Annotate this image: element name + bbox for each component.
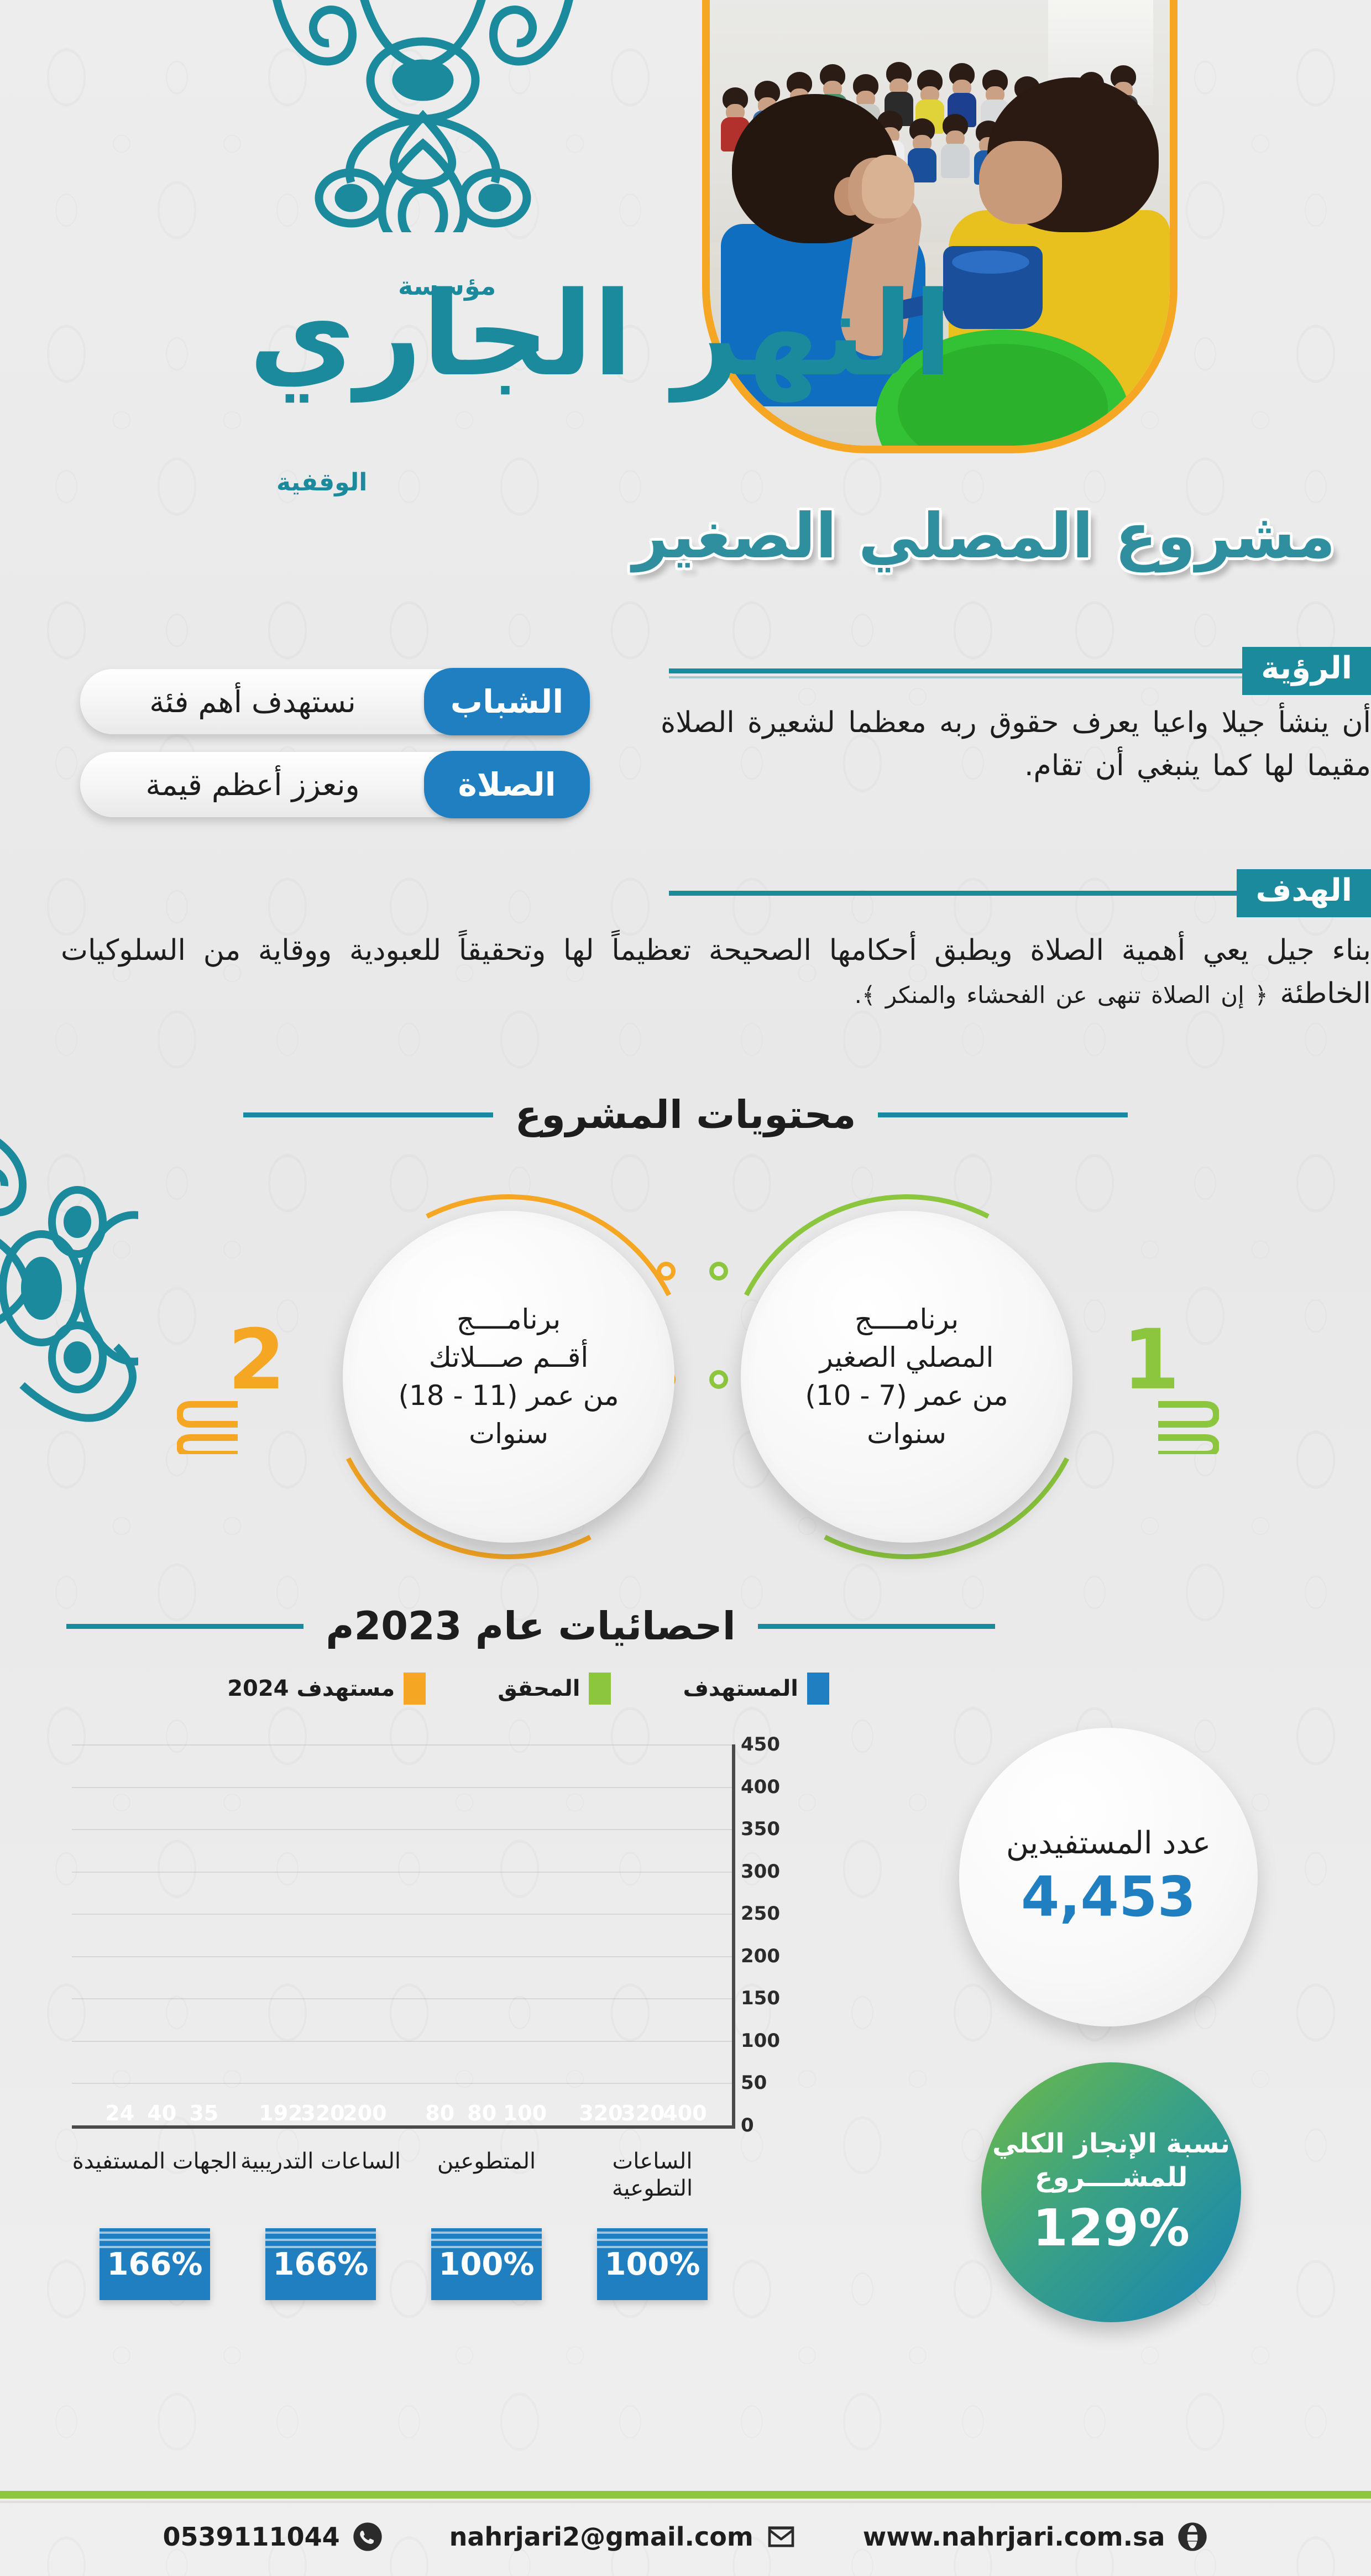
vision-text: أن ينشأ جيلا واعيا يعرف حقوق ربه معظما ل… [661,701,1371,787]
contents-card-1-line2: المصلي الصغير [779,1339,1034,1377]
footer-email[interactable]: nahrjari2@gmail.com [449,2521,797,2552]
legend-label: المحقق [498,1676,580,1701]
logo-main-word: النهر الجاري [249,276,953,393]
pill-youth-text: نستهدف أهم فئة [80,669,425,734]
contents-rule-left [243,1112,493,1117]
legend-swatch [404,1673,426,1705]
footer-phone-text: 0539111044 [163,2522,340,2552]
completion-label-line2: للمشــــروع [1035,2161,1188,2194]
envelope-icon [766,2521,797,2552]
page-title: مشروع المصلي الصغير [597,500,1371,572]
chart-y-tick: 100 [741,2030,792,2052]
goal-text-block: بناء جيل يعي أهمية الصلاة ويطبق أحكامها … [61,929,1371,1015]
percent-box-stripes [431,2232,542,2256]
percent-box: 166% [100,2228,210,2300]
chart-category-labels: الجهات المستفيدةالساعات التدريبيةالمتطوع… [72,2148,735,2202]
logo-bottom-word: الوقفية [276,468,367,497]
legend-item: المحقق [498,1673,611,1705]
chart-gridline [72,2083,732,2084]
phone-icon [352,2521,383,2552]
footer-website[interactable]: www.nahrjari.com.sa [863,2521,1208,2552]
chart-category-label: الجهات المستفيدة [72,2148,238,2202]
chart-category-label: الساعات التدريبية [238,2148,404,2202]
chart-bar-value: 200 [343,2101,385,2125]
chart-bar-value: 400 [663,2101,705,2125]
chart-bar-group: 8080100 [402,1744,562,2125]
chart-gridline [72,1829,732,1830]
contents-card-1-line4: سنوات [779,1415,1034,1453]
percent-box-cell: 166% [72,2228,238,2300]
statistics-section-header: احصائيات عام 2023م [66,1603,995,1649]
chart-bar-value: 320 [621,2101,663,2125]
pill-youth[interactable]: الشباب نستهدف أهم فئة [80,669,589,734]
footer-divider-shadow [0,2501,1371,2503]
chart-gridline [72,1914,732,1915]
chart-category-label: المتطوعين [404,2148,569,2202]
chart-gridline [72,1998,732,1999]
percent-box-stripes [597,2232,708,2256]
chart-y-tick: 300 [741,1861,792,1883]
completion-label-line1: نسبة الإنجاز الكلي [992,2127,1230,2160]
legend-label: المستهدف [683,1676,798,1701]
chart-legend: المستهدفالمحققمستهدف 2024 [66,1673,829,1705]
legend-item: المستهدف [683,1673,829,1705]
goal-rule [669,891,1237,896]
goal-ayah: ﴿ إن الصلاة تنهى عن الفحشاء والمنكر ﴾. [855,981,1268,1009]
pill-prayer[interactable]: الصلاة ونعزز أعظم قيمة [80,752,589,817]
beneficiaries-stat: عدد المستفيدين 4,453 [959,1728,1258,2026]
chart-bar-value: 40 [141,2101,183,2125]
pill-youth-tag: الشباب [424,668,590,735]
footer-website-text: www.nahrjari.com.sa [863,2522,1165,2552]
chart-gridline [72,1872,732,1873]
percent-box-stripes [100,2232,210,2256]
chart-gridline [72,1956,732,1957]
chart-bar-value: 35 [183,2101,225,2125]
contents-title: محتويات المشروع [515,1092,856,1137]
chart-bar-group: 192320200 [242,1744,402,2125]
contents-card-1-line1: برنامــــج [779,1300,1034,1339]
percent-box-cell: 100% [569,2228,735,2300]
contents-card-2[interactable]: برنامــــج أقــم صـــلاتك من عمر (11 - 1… [343,1211,674,1543]
percent-box-cell: 166% [238,2228,404,2300]
contents-number-2-tail-icon [177,1393,243,1454]
percent-box: 100% [431,2228,542,2300]
chart-y-tick: 200 [741,1945,792,1967]
statistics-title: احصائيات عام 2023م [326,1603,735,1649]
contents-card-2-line4: سنوات [381,1415,636,1453]
chart-y-tick: 150 [741,1987,792,2009]
vision-badge: الرؤية [1242,647,1371,695]
chart-y-tick: 400 [741,1776,792,1798]
bar-chart: 2440351923202008080100320320400 05010015… [72,1744,802,2140]
contents-number-2: 2 [228,1319,285,1402]
legend-swatch [589,1673,611,1705]
chart-bar-value: 320 [301,2101,343,2125]
footer-contact-bar: 0539111044 nahrjari2@gmail.com www.nahrj… [0,2521,1371,2552]
legend-swatch [807,1673,829,1705]
percent-box: 100% [597,2228,708,2300]
contents-rule-right [878,1112,1128,1117]
contents-card-2-line3: من عمر (11 - 18) [381,1377,636,1415]
pill-prayer-tag: الصلاة [424,751,590,818]
legend-item: مستهدف 2024 [227,1673,426,1705]
chart-y-tick: 450 [741,1733,792,1755]
goal-badge: الهدف [1237,869,1371,917]
percent-box-stripes [265,2232,376,2256]
chart-bar-group: 320320400 [562,1744,723,2125]
percent-box-cell: 100% [404,2228,569,2300]
chart-gridline [72,1744,732,1746]
water-jug [943,246,1043,329]
contents-card-1-line3: من عمر (7 - 10) [779,1377,1034,1415]
chart-bar-value: 320 [579,2101,621,2125]
contents-number-1-tail-icon [1153,1393,1219,1454]
chart-bar-value: 100 [503,2101,545,2125]
contents-section-header: محتويات المشروع [243,1092,1128,1137]
vision-rule [669,668,1242,673]
beneficiaries-value: 4,453 [1021,1864,1196,1929]
statistics-rule-left [66,1624,303,1629]
chart-y-tick: 350 [741,1818,792,1840]
chart-gridline [72,1787,732,1788]
completion-value: 129% [1033,2198,1190,2258]
contents-card-2-line1: برنامــــج [381,1300,636,1339]
footer-phone[interactable]: 0539111044 [163,2521,383,2552]
contents-node-1a [709,1262,728,1281]
footer-divider [0,2491,1371,2499]
chart-gridline [72,2041,732,2042]
chart-y-tick: 0 [741,2114,792,2136]
goal-section-header: الهدف [669,869,1371,917]
contents-node-1b [709,1370,728,1389]
vision-section-header: الرؤية [669,647,1371,695]
globe-icon [1177,2521,1208,2552]
percent-boxes-row: 166%166%100%100% [72,2228,735,2300]
chart-bar-group: 244035 [82,1744,242,2125]
contents-number-1: 1 [1122,1319,1180,1402]
contents-card-2-line2: أقــم صـــلاتك [381,1339,636,1377]
chart-bar-value: 24 [99,2101,141,2125]
chart-bar-value: 80 [419,2101,461,2125]
chart-bar-value: 80 [461,2101,503,2125]
percent-box: 166% [265,2228,376,2300]
chart-y-tick: 250 [741,1903,792,1925]
contents-node-2a [657,1262,676,1281]
footer-email-text: nahrjari2@gmail.com [449,2522,753,2552]
chart-category-label: الساعات التطوعية [569,2148,735,2202]
legend-label: مستهدف 2024 [227,1676,395,1701]
chart-bar-value: 192 [259,2101,301,2125]
chart-y-tick: 50 [741,2072,792,2094]
completion-stat: نسبة الإنجاز الكلي للمشــــروع 129% [981,2062,1241,2322]
organization-logo: مؤسسة النهر الجاري الوقفية [232,238,608,525]
pill-prayer-text: ونعزز أعظم قيمة [80,752,425,817]
contents-card-1[interactable]: برنامــــج المصلي الصغير من عمر (7 - 10)… [741,1211,1072,1543]
beneficiaries-label: عدد المستفيدين [1006,1825,1211,1861]
statistics-rule-right [758,1624,995,1629]
